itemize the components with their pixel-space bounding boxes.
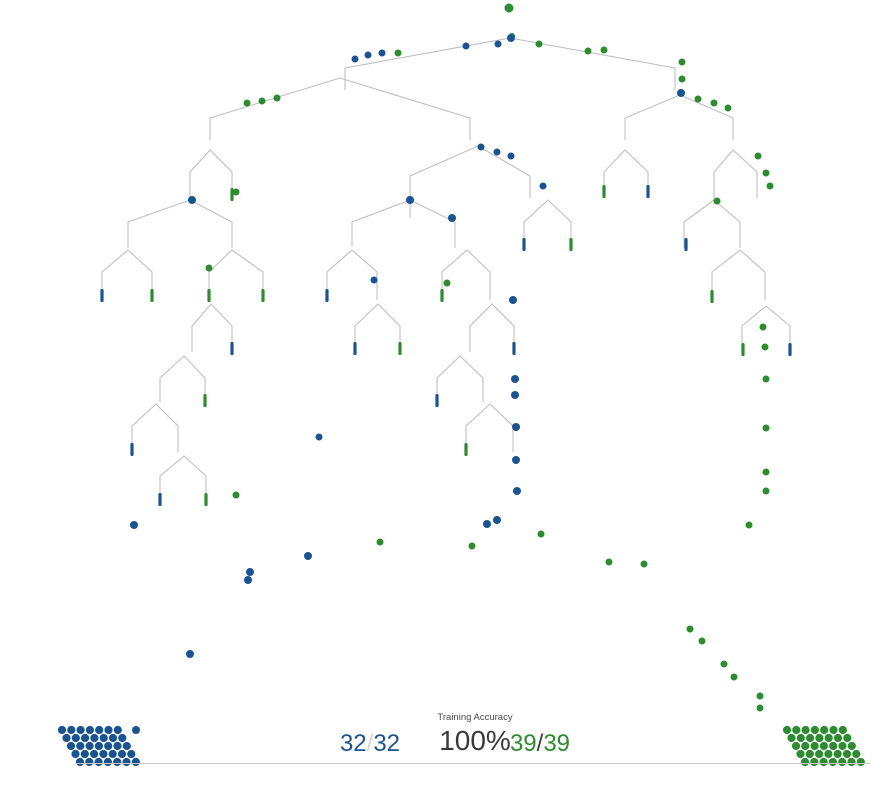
sample-dot-green	[757, 705, 764, 712]
tree-leaf-green	[261, 289, 264, 302]
tree-leaf-blue	[130, 443, 133, 456]
tree-branch	[132, 404, 178, 452]
sample-dot-green	[601, 47, 608, 54]
cluster-dot	[838, 742, 846, 750]
tree-branch	[160, 356, 205, 402]
cluster-dot	[839, 726, 847, 734]
tree-leaf-blue	[512, 342, 515, 355]
tree-leaf-green	[203, 394, 206, 407]
sample-dot-blue	[540, 183, 547, 190]
cluster-dot	[104, 742, 112, 750]
cluster-dot	[847, 758, 855, 766]
tree-branch	[192, 304, 232, 352]
sample-dot-green	[679, 59, 686, 66]
sample-dot-green	[536, 41, 543, 48]
tree-branch	[604, 150, 648, 196]
sample-dot-blue	[509, 296, 517, 304]
sample-dot-green	[395, 50, 402, 57]
tree-leaf-blue	[435, 394, 438, 407]
cluster-dot	[58, 726, 66, 734]
sample-dot-blue	[246, 568, 254, 576]
sample-dot-green	[444, 280, 451, 287]
tree-branch	[466, 404, 513, 452]
cluster-dot	[95, 742, 103, 750]
cluster-dot	[127, 750, 135, 758]
tree-branch	[160, 456, 206, 502]
tree-leaf-blue	[158, 493, 161, 506]
sample-dot-green	[274, 95, 281, 102]
sample-dot-blue	[513, 487, 521, 495]
sample-dot-blue	[365, 52, 372, 59]
cluster-dot	[109, 734, 117, 742]
sample-dot-green	[699, 638, 706, 645]
cluster-dot	[72, 734, 80, 742]
tree-visualization-root: 32/32 Training Accuracy 100% 39/39	[0, 0, 871, 786]
cluster-dot	[801, 758, 809, 766]
sample-dot-blue	[483, 520, 491, 528]
tree-leaf-green	[207, 289, 210, 302]
cluster-dot	[843, 750, 851, 758]
cluster-dot	[123, 742, 131, 750]
tree-branch	[210, 78, 470, 140]
cluster-dot	[829, 758, 837, 766]
cluster-dot	[792, 742, 800, 750]
sample-dot-green	[762, 344, 769, 351]
sample-dot-blue	[371, 277, 378, 284]
tree-leaf-green	[569, 238, 572, 251]
cluster-dot	[104, 726, 112, 734]
sample-dot-green	[763, 376, 770, 383]
sample-dot-blue	[132, 726, 140, 734]
sample-dot-green	[746, 522, 753, 529]
sample-dot-green	[731, 674, 738, 681]
sample-dot-green	[763, 425, 770, 432]
sample-dot-green	[679, 76, 686, 83]
sample-dot-blue	[677, 89, 685, 97]
cluster-dot	[76, 742, 84, 750]
cluster-dot	[104, 758, 112, 766]
tree-branch	[345, 38, 675, 90]
tree-leaf-green	[230, 188, 233, 201]
sample-dot-green	[714, 198, 721, 205]
sample-dot-green	[585, 48, 592, 55]
tree-leaf-green	[440, 289, 443, 302]
cluster-dot	[815, 734, 823, 742]
cluster-dot	[787, 734, 795, 742]
sample-dot-green	[538, 531, 545, 538]
tree-leaf-blue	[684, 238, 687, 251]
sample-dot-green	[687, 626, 694, 633]
tree-leaf-green	[710, 290, 713, 303]
tree-branch	[352, 200, 455, 248]
sample-dot-blue	[406, 196, 414, 204]
cluster-dot	[90, 750, 98, 758]
cluster-dot	[838, 758, 846, 766]
tree-leaf-green	[741, 343, 744, 356]
sample-dot-green	[469, 543, 476, 550]
cluster-dot	[100, 734, 108, 742]
sample-dot-blue	[512, 456, 520, 464]
cluster-dot	[95, 758, 103, 766]
cluster-dot	[824, 750, 832, 758]
cluster-dot	[820, 726, 828, 734]
sample-dot-green	[725, 105, 732, 112]
cluster-dot	[811, 742, 819, 750]
cluster-dot	[848, 742, 856, 750]
sample-dot-green	[206, 265, 213, 272]
tree-leaf-green	[464, 443, 467, 456]
tree-branch	[712, 250, 765, 300]
cluster-dot	[834, 734, 842, 742]
cluster-dot	[797, 734, 805, 742]
sample-dot-blue	[304, 552, 312, 560]
cluster-dot	[801, 742, 809, 750]
sample-dot-blue	[511, 375, 519, 383]
blue-cluster	[58, 726, 140, 766]
sample-dot-green	[763, 488, 770, 495]
cluster-dot	[67, 742, 75, 750]
sample-dot-green	[641, 561, 648, 568]
cluster-dot	[810, 758, 818, 766]
tree-branch	[355, 304, 400, 352]
cluster-dot	[802, 726, 810, 734]
cluster-dot	[834, 750, 842, 758]
cluster-dot	[77, 726, 85, 734]
sample-dot-green	[244, 100, 251, 107]
cluster-dot	[796, 750, 804, 758]
tree-branch	[684, 200, 740, 248]
sample-dot-green	[767, 183, 774, 190]
cluster-dot	[114, 726, 122, 734]
cluster-dot	[783, 726, 791, 734]
cluster-dot	[118, 750, 126, 758]
sample-dot-blue	[494, 149, 501, 156]
cluster-dot	[820, 742, 828, 750]
cluster-dot	[806, 734, 814, 742]
cluster-dot	[122, 758, 130, 766]
tree-branch	[190, 150, 232, 198]
cluster-dot	[71, 750, 79, 758]
sample-dot-green	[695, 96, 702, 103]
cluster-dot	[820, 758, 828, 766]
cluster-dot	[829, 726, 837, 734]
cluster-dot	[81, 750, 89, 758]
sample-dot-green	[711, 100, 718, 107]
cluster-dot	[825, 734, 833, 742]
cluster-dot	[81, 734, 89, 742]
sample-dot-green	[763, 469, 770, 476]
sample-dot-blue	[478, 144, 485, 151]
cluster-dot	[132, 758, 140, 766]
tree-branch	[209, 250, 263, 300]
sample-dot-blue	[511, 391, 519, 399]
sample-dot-green	[606, 559, 613, 566]
tree-branch	[442, 250, 490, 300]
baseline-rule	[75, 763, 870, 764]
cluster-dot	[95, 726, 103, 734]
tree-leaf-blue	[353, 342, 356, 355]
cluster-dot	[109, 750, 117, 758]
sample-dot-green	[757, 693, 764, 700]
cluster-dot	[815, 750, 823, 758]
sample-dot-blue	[130, 521, 138, 529]
sample-dot-green	[259, 98, 266, 105]
sample-dot-blue	[188, 196, 196, 204]
tree-branch	[102, 250, 152, 300]
tree-branch	[437, 356, 483, 402]
cluster-dot	[857, 758, 865, 766]
sample-dot-green	[755, 153, 762, 160]
tree-leaf-green	[398, 342, 401, 355]
cluster-dot	[86, 742, 94, 750]
sample-dot-green	[721, 661, 728, 668]
branch-layer	[102, 38, 790, 502]
cluster-dot	[843, 734, 851, 742]
sample-dot-blue	[316, 434, 323, 441]
sample-dot-blue	[186, 650, 194, 658]
tree-branch	[470, 304, 514, 352]
tree-leaf-green	[602, 185, 605, 198]
cluster-dot	[118, 734, 126, 742]
leaf-layer	[100, 185, 791, 506]
tree-leaf-blue	[100, 289, 103, 302]
cluster-dot	[76, 758, 84, 766]
cluster-dot	[811, 726, 819, 734]
tree-branch	[524, 200, 571, 248]
cluster-dot	[806, 750, 814, 758]
sample-dot-blue	[512, 423, 520, 431]
sample-dot-blue	[508, 153, 515, 160]
sample-dot-blue	[495, 41, 502, 48]
tree-branch	[714, 150, 757, 198]
decision-tree-canvas	[0, 0, 871, 786]
sample-dot-green	[760, 324, 767, 331]
sample-dot-blue	[448, 214, 456, 222]
sample-dot-blue	[507, 34, 515, 42]
sample-dot-blue	[463, 43, 470, 50]
cluster-dot	[86, 726, 94, 734]
sample-dot-green	[233, 189, 240, 196]
cluster-dot	[99, 750, 107, 758]
cluster-dot	[113, 742, 121, 750]
green-cluster	[783, 726, 865, 766]
cluster-dot	[113, 758, 121, 766]
cluster-dot	[90, 734, 98, 742]
tree-leaf-blue	[646, 185, 649, 198]
cluster-dot	[62, 734, 70, 742]
tree-leaf-green	[150, 289, 153, 302]
tree-branch	[128, 200, 232, 248]
cluster-dot	[792, 726, 800, 734]
sample-dot-green	[233, 492, 240, 499]
sample-dot-blue	[352, 56, 359, 63]
tree-leaf-blue	[522, 238, 525, 251]
cluster-dot	[829, 742, 837, 750]
tree-leaf-blue	[325, 289, 328, 302]
sample-dot-blue	[493, 516, 501, 524]
sample-dot-blue	[379, 50, 386, 57]
sample-dot-blue	[244, 576, 252, 584]
tree-leaf-blue	[230, 342, 233, 355]
tree-branch	[327, 250, 377, 300]
sample-dot-green	[763, 170, 770, 177]
sample-dot-green	[377, 539, 384, 546]
cluster-dot	[852, 750, 860, 758]
tree-leaf-green	[204, 493, 207, 506]
cluster-dot	[85, 758, 93, 766]
tree-leaf-blue	[788, 343, 791, 356]
cluster-layer	[58, 726, 865, 766]
cluster-dot	[67, 726, 75, 734]
sample-dot-green	[505, 4, 514, 13]
